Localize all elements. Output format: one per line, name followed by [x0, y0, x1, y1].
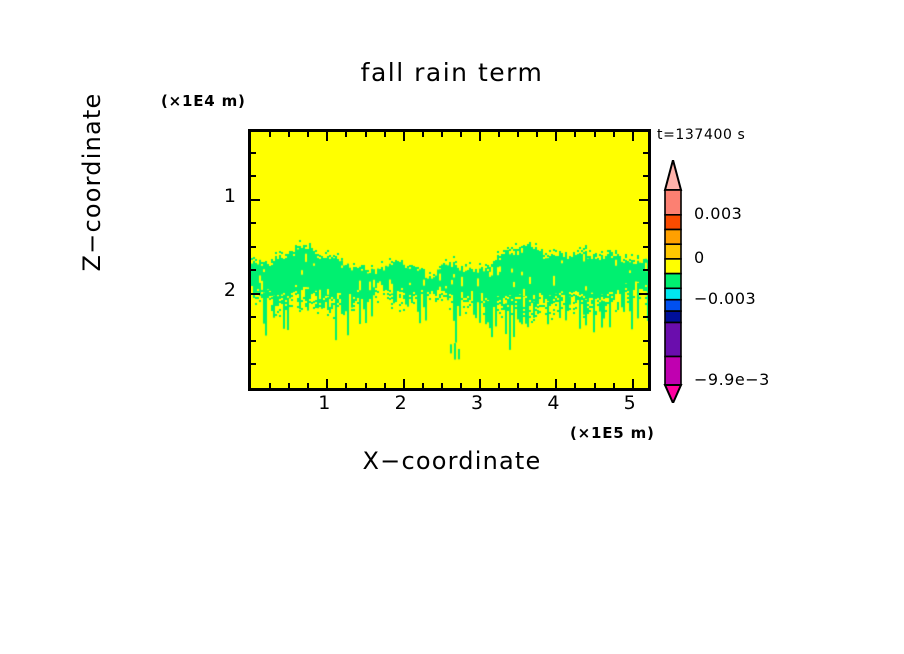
x-minor-tick-top [307, 132, 309, 137]
y-minor-tick [251, 222, 256, 224]
colorbar-band [665, 259, 681, 274]
y-minor-tick [251, 363, 256, 365]
page-title: fall rain term [0, 58, 904, 87]
x-major-tick-top [326, 132, 328, 141]
x-major-tick-top [632, 132, 634, 141]
colorbar-band [665, 230, 681, 245]
x-minor-tick [269, 383, 271, 388]
x-minor-tick-top [269, 132, 271, 137]
x-tick-label: 1 [304, 392, 344, 414]
y-axis-title: Z−coordinate [78, 62, 108, 302]
x-tick-label: 5 [610, 392, 650, 414]
x-minor-tick [613, 383, 615, 388]
x-minor-tick [498, 383, 500, 388]
x-minor-tick [345, 383, 347, 388]
x-minor-tick [422, 383, 424, 388]
colorbar-over-arrow [665, 160, 681, 190]
y-minor-tick [251, 246, 256, 248]
colorbar-band [665, 274, 681, 289]
x-axis-title: X−coordinate [0, 447, 904, 475]
colorbar-under-arrow [665, 385, 681, 403]
x-minor-tick-top [288, 132, 290, 137]
y-major-tick-right [639, 199, 648, 201]
x-major-tick-top [555, 132, 557, 141]
x-minor-tick-top [536, 132, 538, 137]
y-minor-tick-right [643, 222, 648, 224]
heatmap-canvas [251, 132, 648, 388]
y-minor-tick-right [643, 246, 648, 248]
x-axis-units-label: (×1E5 m) [570, 424, 655, 442]
y-tick-label: 1 [208, 185, 236, 207]
x-minor-tick-top [517, 132, 519, 137]
colorbar-tick-label: −0.003 [694, 289, 756, 308]
x-minor-tick-top [460, 132, 462, 137]
x-minor-tick-top [422, 132, 424, 137]
x-tick-label: 3 [457, 392, 497, 414]
y-minor-tick [251, 340, 256, 342]
y-minor-tick-right [643, 152, 648, 154]
plot-area [248, 129, 651, 391]
figure-canvas: fall rain term (×1E4 m) t=137400 s 12345… [0, 0, 904, 654]
x-major-tick-top [403, 132, 405, 141]
y-minor-tick-right [643, 363, 648, 365]
x-tick-label: 4 [533, 392, 573, 414]
x-minor-tick-top [594, 132, 596, 137]
colorbar-band [665, 288, 681, 299]
x-minor-tick [307, 383, 309, 388]
x-minor-tick-top [613, 132, 615, 137]
colorbar-gradient [663, 160, 683, 403]
x-minor-tick-top [441, 132, 443, 137]
colorbar-band [665, 357, 681, 385]
x-minor-tick [536, 383, 538, 388]
x-major-tick [632, 379, 634, 388]
x-minor-tick-top [345, 132, 347, 137]
colorbar-band [665, 244, 681, 259]
y-minor-tick [251, 269, 256, 271]
y-minor-tick [251, 152, 256, 154]
y-minor-tick-right [643, 316, 648, 318]
x-minor-tick [288, 383, 290, 388]
x-minor-tick-top [384, 132, 386, 137]
y-major-tick [251, 199, 260, 201]
x-minor-tick [594, 383, 596, 388]
x-minor-tick-top [498, 132, 500, 137]
colorbar-tick-label: 0 [694, 248, 705, 267]
x-minor-tick-top [574, 132, 576, 137]
x-minor-tick [460, 383, 462, 388]
y-minor-tick [251, 316, 256, 318]
x-minor-tick [365, 383, 367, 388]
colorbar [663, 160, 683, 403]
x-major-tick [555, 379, 557, 388]
colorbar-band [665, 311, 681, 322]
y-axis-units-label: (×1E4 m) [161, 92, 246, 110]
y-minor-tick-right [643, 269, 648, 271]
x-tick-label: 2 [381, 392, 421, 414]
x-major-tick-top [479, 132, 481, 141]
y-major-tick [251, 293, 260, 295]
y-minor-tick-right [643, 175, 648, 177]
time-annotation: t=137400 s [657, 127, 745, 143]
y-major-tick-right [639, 293, 648, 295]
colorbar-band [665, 190, 681, 215]
colorbar-band [665, 300, 681, 311]
x-minor-tick [574, 383, 576, 388]
x-minor-tick [384, 383, 386, 388]
colorbar-band [665, 215, 681, 230]
x-minor-tick [441, 383, 443, 388]
y-tick-label: 2 [208, 279, 236, 301]
colorbar-tick-label: −9.9e−3 [694, 370, 770, 389]
y-minor-tick [251, 175, 256, 177]
colorbar-band [665, 323, 681, 357]
x-minor-tick [517, 383, 519, 388]
x-minor-tick-top [365, 132, 367, 137]
y-minor-tick-right [643, 340, 648, 342]
x-major-tick [479, 379, 481, 388]
x-major-tick [403, 379, 405, 388]
x-major-tick [326, 379, 328, 388]
colorbar-tick-label: 0.003 [694, 204, 742, 223]
